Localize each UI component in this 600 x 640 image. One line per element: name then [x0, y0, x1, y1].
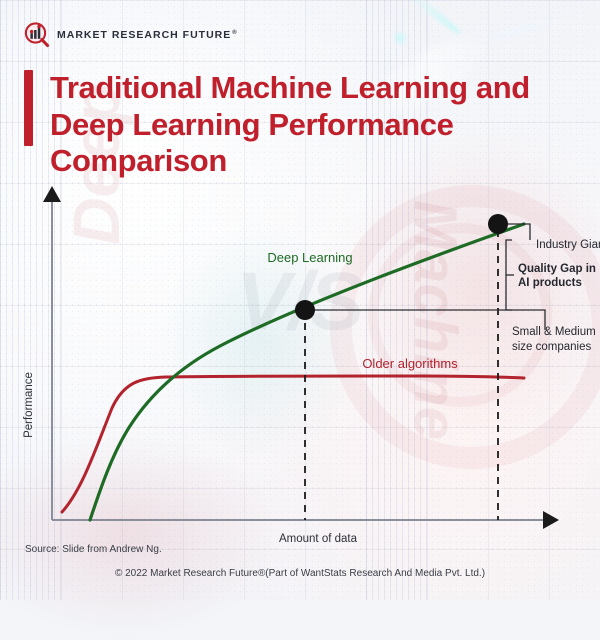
annotation-industry-giants: Industry Giants: [536, 239, 600, 251]
series-deep-learning-curve: [90, 224, 524, 520]
marker-industry-giants[interactable]: [488, 214, 508, 234]
chart-axes: [52, 200, 545, 520]
y-axis-title: Performance: [23, 372, 35, 438]
magnifier-chart-icon: [24, 22, 50, 48]
background-streak-dot: [392, 30, 408, 46]
marker-small-medium[interactable]: [295, 300, 315, 320]
series-label-deep-learning: Deep Learning: [267, 250, 352, 265]
brand-logo: MARKET RESEARCH FUTURE®: [24, 22, 238, 48]
series-older-algorithms-curve: [62, 376, 524, 512]
quality-gap-bracket: [506, 240, 514, 310]
source-note: Source: Slide from Andrew Ng.: [25, 544, 162, 555]
annotation-small-medium-line2: size companies: [512, 341, 592, 353]
annotation-quality-gap-line1: Quality Gap in: [518, 263, 596, 275]
connector-small-medium: [305, 310, 545, 330]
title-accent-bar: [24, 70, 33, 146]
series-label-older-algorithms: Older algorithms: [362, 356, 458, 371]
brand-name: MARKET RESEARCH FUTURE®: [57, 29, 238, 41]
registered-mark: ®: [232, 30, 237, 36]
annotation-quality-gap-line2: AI products: [518, 277, 582, 289]
x-axis-title: Amount of data: [279, 533, 358, 545]
performance-comparison-chart: Deep Learning Older algorithms Industry …: [0, 160, 600, 550]
copyright-note: © 2022 Market Research Future®(Part of W…: [0, 568, 600, 579]
annotation-small-medium-line1: Small & Medium: [512, 326, 596, 338]
